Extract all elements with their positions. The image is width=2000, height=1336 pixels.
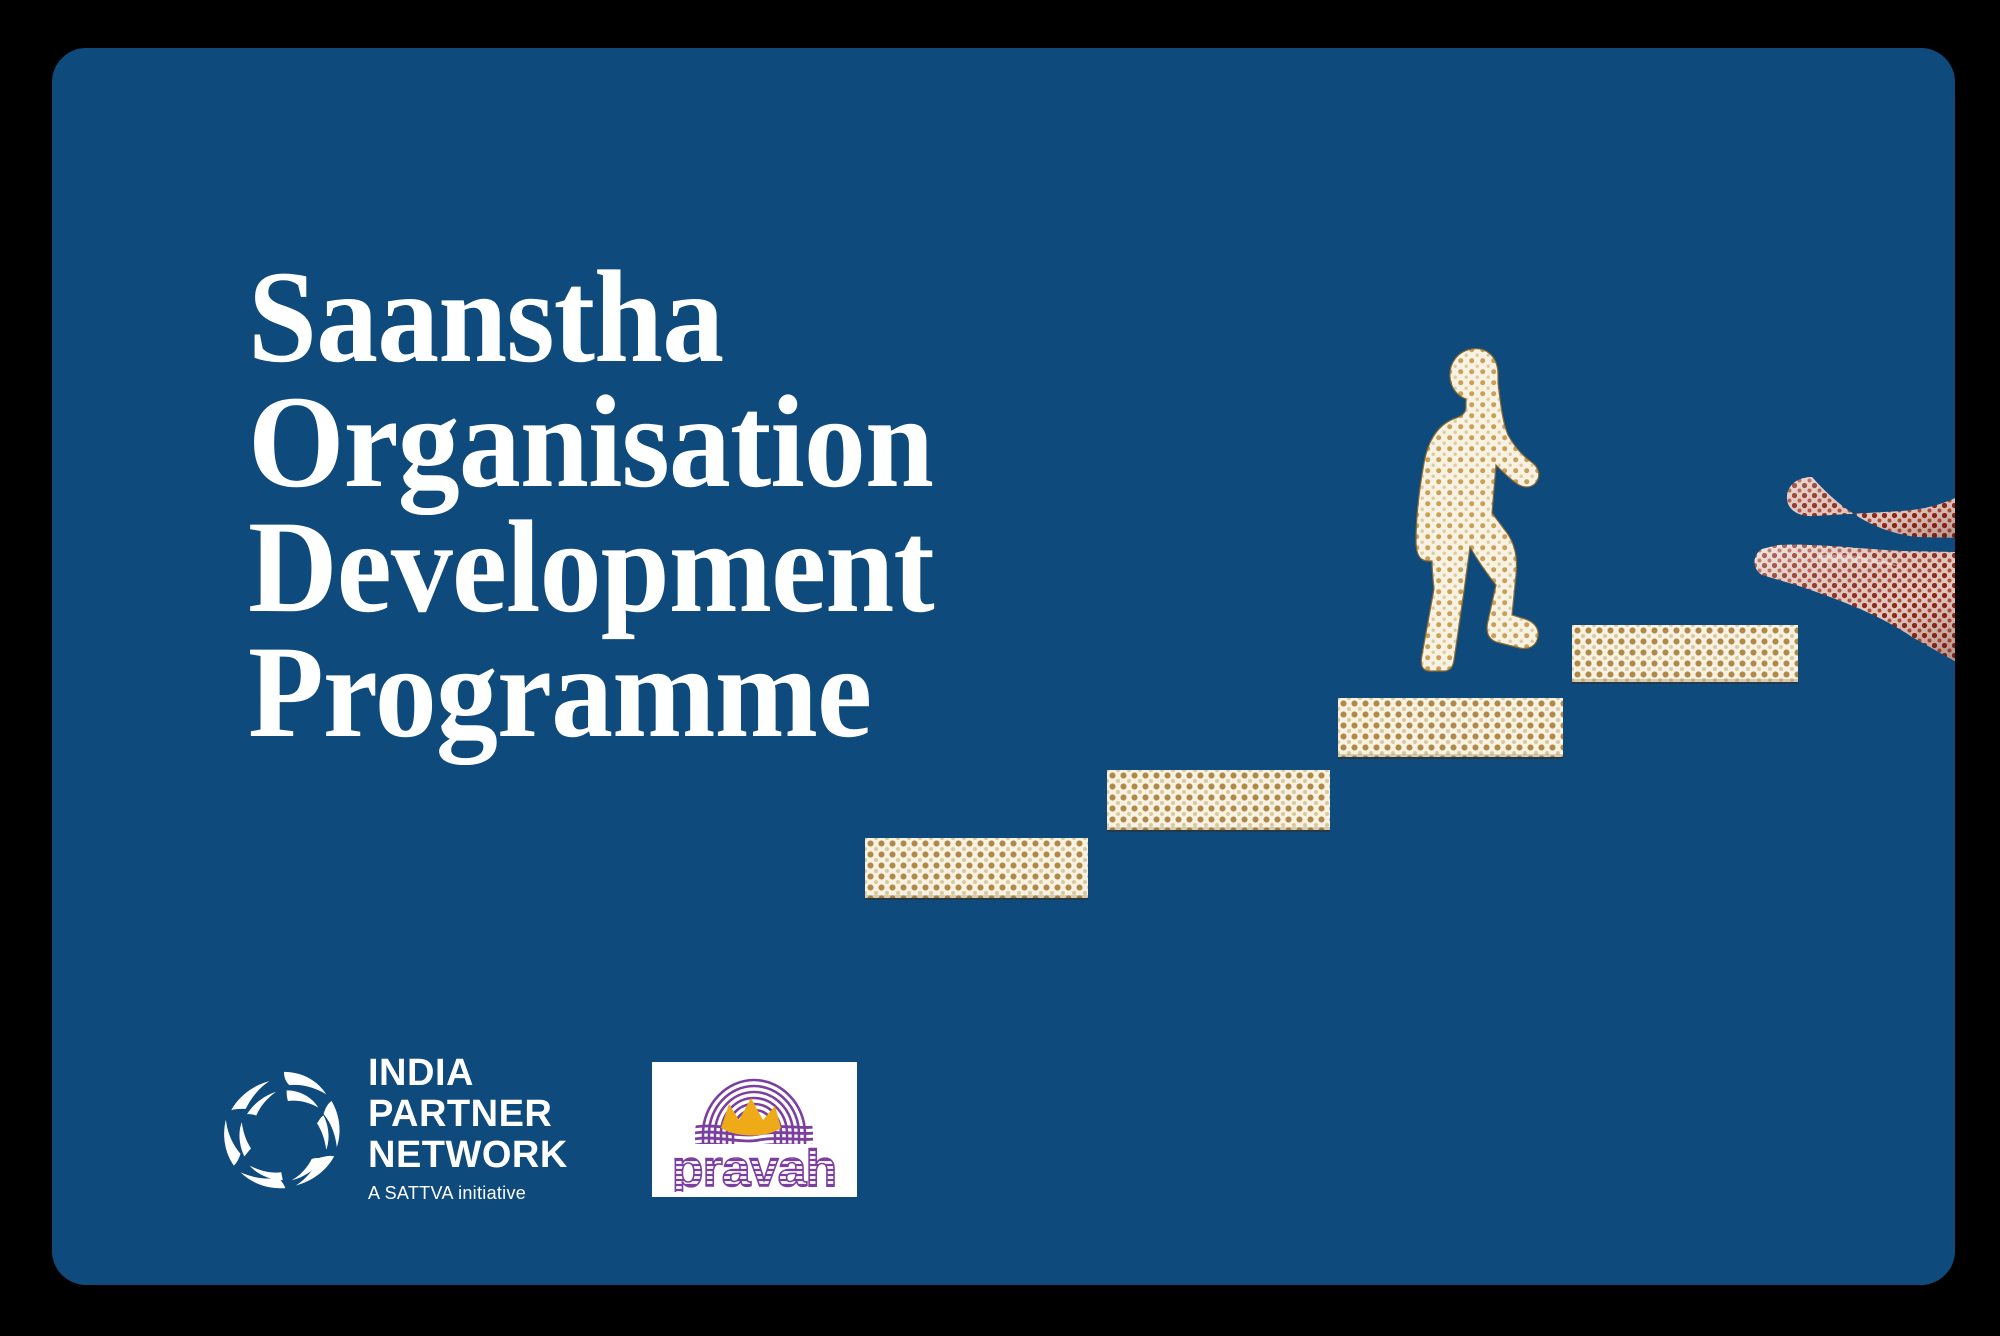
title-line-3: Development [248,504,1188,629]
slide-card: Saanstha Organisation Development Progra… [52,48,1955,1285]
pravah-wordmark-text: pravah [672,1140,837,1192]
step-block-2 [1107,770,1330,830]
step-block-3 [1338,698,1563,757]
ipn-tagline: A SATTVA initiative [368,1180,568,1206]
logo-row: INDIA PARTNER NETWORK A SATTVA initiativ… [218,1053,857,1206]
india-partner-network-logo[interactable]: INDIA PARTNER NETWORK A SATTVA initiativ… [218,1053,568,1206]
ipn-word-network: NETWORK [368,1135,568,1176]
page-title: Saanstha Organisation Development Progra… [248,254,1248,754]
step-block-1 [865,838,1088,898]
ipn-word-partner: PARTNER [368,1094,568,1135]
title-line-1: Saanstha [248,254,1188,379]
india-partner-network-circular-mark [218,1064,350,1196]
india-partner-network-wordmark: INDIA PARTNER NETWORK A SATTVA initiativ… [368,1053,568,1206]
title-line-4: Programme [248,629,1188,754]
helping-hand [1752,433,1955,663]
walking-person-figure [1392,303,1582,703]
title-line-2: Organisation [248,379,1188,504]
slide-canvas: Saanstha Organisation Development Progra… [0,0,2000,1336]
pravah-logo[interactable]: pravah [652,1062,857,1197]
ipn-word-india: INDIA [368,1053,568,1094]
